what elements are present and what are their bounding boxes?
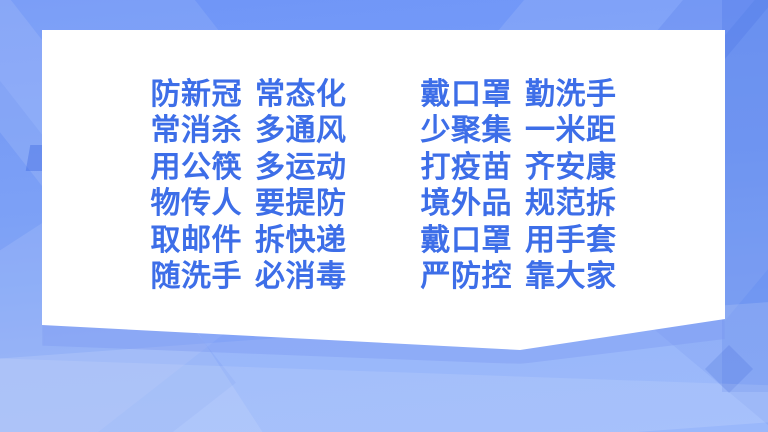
slogan-phrase: 必消毒	[255, 259, 347, 296]
slogan-row: 境外品 规范拆	[421, 186, 617, 223]
slogan-phrase: 戴口罩	[421, 77, 513, 114]
decor-bottom-sweep-b	[0, 357, 768, 432]
slogan-column-right: 戴口罩 勤洗手 少聚集 一米距 打疫苗 齐安康 境外品 规范拆 戴口罩 用手套 …	[421, 77, 617, 296]
slogan-phrase: 戴口罩	[421, 223, 513, 260]
poster-canvas: 防新冠 常态化 常消杀 多通风 用公筷 多运动 物传人 要提防 取邮件 拆快递 …	[0, 0, 768, 432]
slogan-phrase: 用公筷	[151, 150, 243, 187]
slogan-phrase: 规范拆	[525, 186, 617, 223]
slogan-row: 戴口罩 勤洗手	[421, 77, 617, 114]
slogan-phrase: 少聚集	[421, 113, 513, 150]
slogan-grid: 防新冠 常态化 常消杀 多通风 用公筷 多运动 物传人 要提防 取邮件 拆快递 …	[42, 30, 725, 350]
slogan-phrase: 常态化	[255, 77, 347, 114]
slogan-phrase: 勤洗手	[525, 77, 617, 114]
slogan-row: 用公筷 多运动	[151, 150, 347, 187]
slogan-row: 常消杀 多通风	[151, 113, 347, 150]
slogan-phrase: 多运动	[255, 150, 347, 187]
slogan-row: 戴口罩 用手套	[421, 223, 617, 260]
slogan-phrase: 常消杀	[151, 113, 243, 150]
slogan-phrase: 打疫苗	[421, 150, 513, 187]
slogan-row: 随洗手 必消毒	[151, 259, 347, 296]
slogan-column-left: 防新冠 常态化 常消杀 多通风 用公筷 多运动 物传人 要提防 取邮件 拆快递 …	[151, 77, 347, 296]
slogan-row: 打疫苗 齐安康	[421, 150, 617, 187]
slogan-row: 物传人 要提防	[151, 186, 347, 223]
slogan-phrase: 严防控	[421, 259, 513, 296]
slogan-phrase: 随洗手	[151, 259, 243, 296]
decor-right-edge-tip	[705, 345, 753, 393]
slogan-phrase: 多通风	[255, 113, 347, 150]
slogan-phrase: 取邮件	[151, 223, 243, 260]
slogan-phrase: 齐安康	[525, 150, 617, 187]
slogan-phrase: 一米距	[525, 113, 617, 150]
slogan-phrase: 境外品	[421, 186, 513, 223]
slogan-row: 少聚集 一米距	[421, 113, 617, 150]
slogan-row: 防新冠 常态化	[151, 77, 347, 114]
slogan-row: 严防控 靠大家	[421, 259, 617, 296]
slogan-phrase: 物传人	[151, 186, 243, 223]
slogan-phrase: 靠大家	[525, 259, 617, 296]
slogan-phrase: 用手套	[525, 223, 617, 260]
decor-right-edge-band	[722, 0, 768, 392]
slogan-phrase: 拆快递	[255, 223, 347, 260]
slogan-phrase: 防新冠	[151, 77, 243, 114]
slogan-phrase: 要提防	[255, 186, 347, 223]
slogan-row: 取邮件 拆快递	[151, 223, 347, 260]
